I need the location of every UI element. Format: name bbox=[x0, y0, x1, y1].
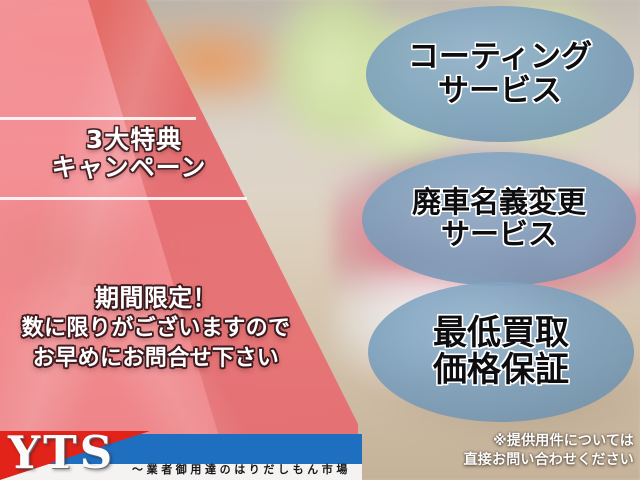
badge-price-line-1: 最低買取 bbox=[433, 315, 569, 352]
campaign-banner: 3大特典 キャンペーン 期間限定！ 数に限りがございますので お早めにお問合せ下… bbox=[0, 0, 640, 480]
promo-message: 期間限定！ 数に限りがございますので お早めにお問合せ下さい bbox=[0, 282, 312, 373]
promo-line-2: 数に限りがございますので bbox=[0, 314, 312, 343]
badge-transfer-line-1: 廃車名義変更 bbox=[412, 187, 586, 219]
campaign-headline: 3大特典 キャンペーン bbox=[0, 126, 258, 182]
logo-bar[interactable]: YTS ～業者御用達のはりだしもん市場 bbox=[0, 428, 362, 480]
badge-coating-line-1: コーティング bbox=[408, 40, 592, 74]
disclaimer-line-1: ※提供用件については bbox=[398, 432, 634, 451]
logo-wordmark: YTS bbox=[8, 430, 115, 475]
badge-transfer-line-2: サービス bbox=[441, 219, 557, 251]
promo-line-3: お早めにお問合せ下さい bbox=[0, 344, 312, 373]
badge-minimum-price-guarantee[interactable]: 最低買取 価格保証 bbox=[368, 282, 634, 422]
promo-line-1: 期間限定！ bbox=[0, 282, 312, 314]
disclaimer-line-2: 直接お問い合わせください bbox=[398, 451, 634, 470]
logo-tagline: ～業者御用達のはりだしもん市場 bbox=[132, 461, 360, 477]
badge-price-line-2: 価格保証 bbox=[433, 352, 569, 389]
badge-coating-line-2: サービス bbox=[438, 74, 562, 108]
disclaimer-note: ※提供用件については 直接お問い合わせください bbox=[398, 432, 634, 470]
headline-bottom-rule bbox=[0, 197, 247, 200]
badge-coating-service[interactable]: コーティング サービス bbox=[366, 6, 634, 142]
headline-line-1: 3大特典 bbox=[0, 126, 258, 154]
headline-top-rule bbox=[0, 117, 196, 120]
badge-scrap-title-transfer-service[interactable]: 廃車名義変更 サービス bbox=[362, 152, 636, 286]
headline-line-2: キャンペーン bbox=[0, 154, 258, 182]
